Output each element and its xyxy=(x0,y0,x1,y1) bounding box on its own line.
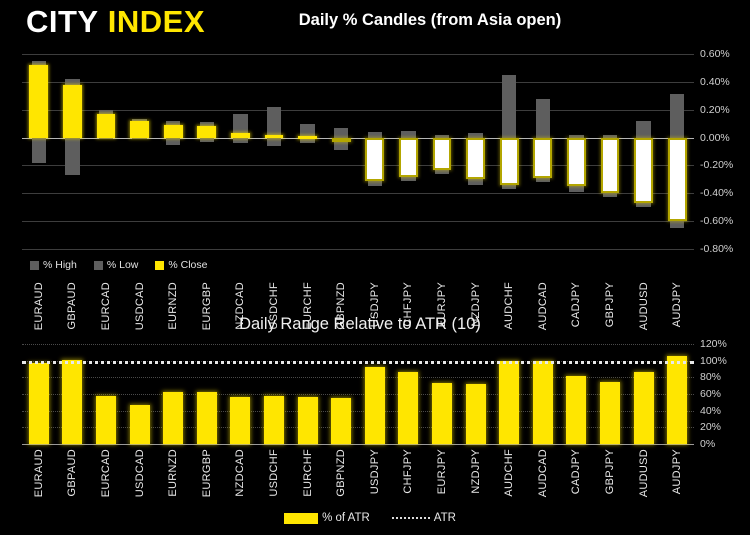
atr-reference-line xyxy=(22,361,694,364)
gridline xyxy=(22,411,694,412)
zero-line xyxy=(22,138,694,139)
candle-GBPAUD[interactable] xyxy=(63,54,82,249)
y-axis-tick-label: 0.40% xyxy=(700,76,730,88)
candle-NZDCAD[interactable] xyxy=(231,54,250,249)
candle-body-bearish xyxy=(601,138,620,194)
legend-label-low: % Low xyxy=(107,259,139,271)
y-axis-tick-label: 120% xyxy=(700,338,727,350)
atr-bar-USDCHF[interactable] xyxy=(264,396,284,444)
atr-bar-EURGBP[interactable] xyxy=(197,392,217,445)
gridline xyxy=(22,344,694,345)
candle-body-bearish xyxy=(466,138,485,180)
x-tick-EURJPY: EURJPY xyxy=(436,449,448,494)
y-axis-tick-label: -0.40% xyxy=(700,187,733,199)
atr-bar-GBPAUD[interactable] xyxy=(62,360,82,444)
brand-word-index: INDEX xyxy=(108,4,205,39)
x-tick-AUDCHF: AUDCHF xyxy=(503,449,515,497)
candle-EURNZD[interactable] xyxy=(164,54,183,249)
legend-label-pct-of-atr: % of ATR xyxy=(322,512,370,524)
legend-label-high: % High xyxy=(43,259,77,271)
candle-AUDCAD[interactable] xyxy=(533,54,552,249)
candle-range-bar xyxy=(300,124,314,144)
y-axis-tick-label: 0.20% xyxy=(700,104,730,116)
atr-x-axis-labels: EURAUDGBPAUDEURCADUSDCADEURNZDEURGBPNZDC… xyxy=(22,449,694,515)
x-tick-EURGBP: EURGBP xyxy=(201,449,213,497)
atr-bar-GBPNZD[interactable] xyxy=(331,398,351,444)
x-tick-NZDJPY: NZDJPY xyxy=(470,449,482,494)
candle-body-bullish xyxy=(298,136,317,139)
candle-body-bearish xyxy=(634,138,653,203)
candle-body-bullish xyxy=(130,121,149,138)
candles-chart-panel: % High % Low % Close EURAUDGBPAUDEURCADU… xyxy=(0,44,750,294)
atr-bar-NZDJPY[interactable] xyxy=(466,384,486,444)
candle-CADJPY[interactable] xyxy=(567,54,586,249)
legend-item-close: % Close xyxy=(155,259,207,271)
y-axis-tick-label: 0.60% xyxy=(700,48,730,60)
chart1-title: Daily % Candles (from Asia open) xyxy=(250,11,610,30)
brand-word-city: CITY xyxy=(26,4,99,39)
y-axis-tick-label: -0.60% xyxy=(700,215,733,227)
atr-bar-EURJPY[interactable] xyxy=(432,383,452,444)
candle-body-bullish xyxy=(29,65,48,137)
candle-body-bullish xyxy=(97,114,116,138)
candle-body-bearish xyxy=(500,138,519,185)
candle-CHFJPY[interactable] xyxy=(399,54,418,249)
atr-bar-CHFJPY[interactable] xyxy=(398,372,418,445)
candle-range-bar xyxy=(233,114,247,143)
axis-baseline xyxy=(22,444,694,445)
atr-bar-AUDCAD[interactable] xyxy=(533,361,553,444)
x-tick-USDJPY: USDJPY xyxy=(369,449,381,494)
candle-AUDUSD[interactable] xyxy=(634,54,653,249)
gridline xyxy=(22,221,694,222)
x-tick-GBPJPY: GBPJPY xyxy=(604,449,616,494)
atr-line-swatch-icon xyxy=(392,517,430,519)
gridline xyxy=(22,427,694,428)
atr-bar-EURNZD[interactable] xyxy=(163,392,183,444)
low-swatch-icon xyxy=(94,261,103,270)
chart2-title: Daily Range Relative to ATR (10) xyxy=(0,315,720,334)
atr-bar-NZDCAD[interactable] xyxy=(230,397,250,445)
atr-bar-EURAUD[interactable] xyxy=(29,363,49,444)
x-tick-AUDJPY: AUDJPY xyxy=(671,449,683,494)
candles-plot-area xyxy=(22,54,694,249)
candle-EURGBP[interactable] xyxy=(197,54,216,249)
candle-USDJPY[interactable] xyxy=(365,54,384,249)
atr-bar-USDCAD[interactable] xyxy=(130,405,150,444)
legend-label-atr: ATR xyxy=(434,512,456,524)
atr-plot-area xyxy=(22,344,694,444)
candle-body-bearish xyxy=(433,138,452,170)
candle-body-bearish xyxy=(332,138,351,142)
y-axis-tick-label: 60% xyxy=(700,388,721,400)
y-axis-tick-label: 20% xyxy=(700,421,721,433)
atr-bar-EURCHF[interactable] xyxy=(298,397,318,444)
candle-AUDCHF[interactable] xyxy=(500,54,519,249)
y-axis-tick-label: -0.80% xyxy=(700,243,733,255)
gridline xyxy=(22,377,694,378)
gridline xyxy=(22,82,694,83)
x-tick-EURCHF: EURCHF xyxy=(302,449,314,497)
legend-item-pct-of-atr: % of ATR xyxy=(284,512,370,524)
candle-EURCHF[interactable] xyxy=(298,54,317,249)
candle-GBPJPY[interactable] xyxy=(601,54,620,249)
x-tick-GBPAUD: GBPAUD xyxy=(66,449,78,496)
x-tick-EURNZD: EURNZD xyxy=(167,449,179,497)
x-tick-USDCAD: USDCAD xyxy=(134,449,146,497)
candle-range-bar xyxy=(267,107,281,146)
x-tick-CHFJPY: CHFJPY xyxy=(402,449,414,494)
y-axis-tick-label: 40% xyxy=(700,405,721,417)
brand-logo: CITY INDEX xyxy=(26,5,205,39)
x-tick-CADJPY: CADJPY xyxy=(570,449,582,494)
y-axis-tick-label: 0.00% xyxy=(700,132,730,144)
candle-EURJPY[interactable] xyxy=(433,54,452,249)
gridline xyxy=(22,193,694,194)
y-axis-tick-label: -0.20% xyxy=(700,159,733,171)
atr-bar-GBPJPY[interactable] xyxy=(600,382,620,444)
candle-USDCAD[interactable] xyxy=(130,54,149,249)
candle-body-bearish xyxy=(668,138,687,222)
candle-USDCHF[interactable] xyxy=(265,54,284,249)
x-tick-AUDCAD: AUDCAD xyxy=(537,449,549,497)
gridline xyxy=(22,110,694,111)
legend-item-high: % High xyxy=(30,259,77,271)
y-axis-tick-label: 80% xyxy=(700,371,721,383)
candle-body-bearish xyxy=(399,138,418,177)
candle-body-bullish xyxy=(63,85,82,138)
x-tick-EURAUD: EURAUD xyxy=(33,449,45,497)
y-axis-tick-label: 100% xyxy=(700,355,727,367)
x-tick-EURCAD: EURCAD xyxy=(100,449,112,497)
atr-bar-CADJPY[interactable] xyxy=(566,376,586,444)
candles-legend: % High % Low % Close xyxy=(30,259,207,271)
y-axis-tick-label: 0% xyxy=(700,438,715,450)
atr-chart-panel: EURAUDGBPAUDEURCADUSDCADEURNZDEURGBPNZDC… xyxy=(0,344,750,454)
gridline xyxy=(22,54,694,55)
atr-bar-AUDCHF[interactable] xyxy=(499,361,519,444)
candle-NZDJPY[interactable] xyxy=(466,54,485,249)
candle-EURAUD[interactable] xyxy=(29,54,48,249)
atr-bar-AUDJPY[interactable] xyxy=(667,356,687,444)
header: CITY INDEX Daily % Candles (from Asia op… xyxy=(0,0,750,44)
legend-item-low: % Low xyxy=(94,259,139,271)
gridline xyxy=(22,249,694,250)
x-tick-AUDUSD: AUDUSD xyxy=(638,449,650,497)
atr-legend: % of ATR ATR xyxy=(0,512,740,524)
x-tick-NZDCAD: NZDCAD xyxy=(234,449,246,497)
candle-body-bearish xyxy=(567,138,586,187)
gridline xyxy=(22,394,694,395)
atr-bar-AUDUSD[interactable] xyxy=(634,372,654,445)
candle-AUDJPY[interactable] xyxy=(668,54,687,249)
pct-of-atr-swatch-icon xyxy=(284,513,318,524)
gridline xyxy=(22,165,694,166)
legend-item-atr-line: ATR xyxy=(392,512,456,524)
legend-label-close: % Close xyxy=(168,259,207,271)
candle-EURCAD[interactable] xyxy=(97,54,116,249)
close-swatch-icon xyxy=(155,261,164,270)
x-tick-USDCHF: USDCHF xyxy=(268,449,280,497)
high-swatch-icon xyxy=(30,261,39,270)
candle-body-bearish xyxy=(365,138,384,181)
atr-bar-EURCAD[interactable] xyxy=(96,396,116,444)
atr-bar-USDJPY[interactable] xyxy=(365,367,385,445)
candle-GBPNZD[interactable] xyxy=(332,54,351,249)
x-tick-GBPNZD: GBPNZD xyxy=(335,449,347,497)
candle-body-bullish xyxy=(164,125,183,138)
candle-body-bullish xyxy=(197,126,216,137)
candle-body-bearish xyxy=(533,138,552,178)
candle-body-bullish xyxy=(231,133,250,137)
candle-body-bullish xyxy=(265,135,284,138)
